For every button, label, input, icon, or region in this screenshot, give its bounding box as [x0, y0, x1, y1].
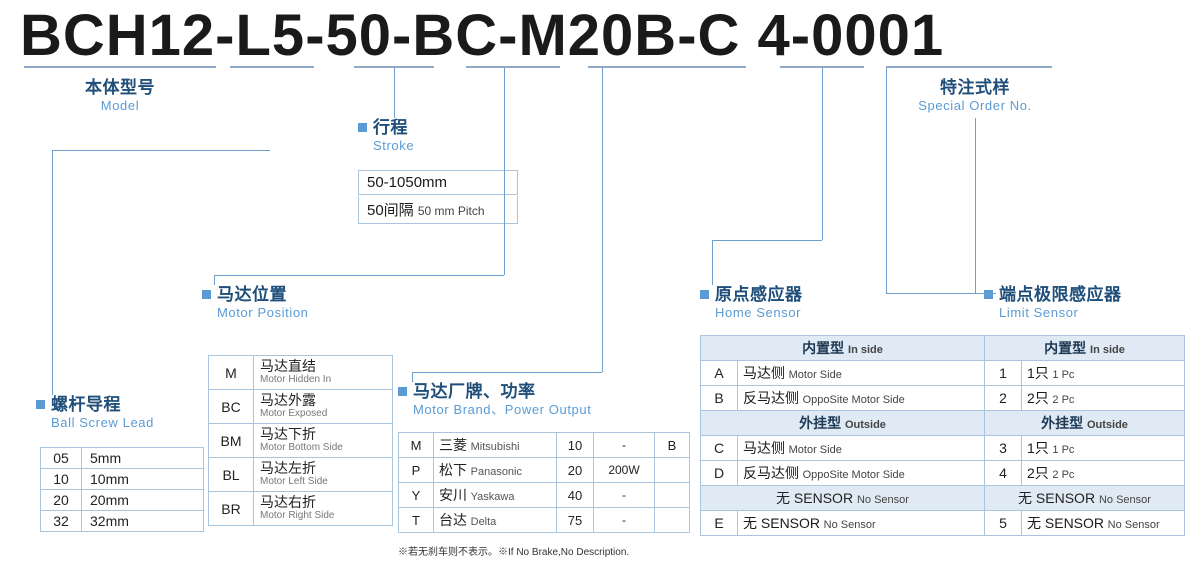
home-value: 反马达侧 OppoSite Motor Side — [738, 386, 985, 411]
brand-suffix — [655, 458, 690, 483]
leader-home-up — [822, 68, 823, 240]
table-row: 05 5mm — [41, 448, 204, 469]
section-limit-cn: 端点极限感应器 — [984, 285, 1122, 305]
table-row: BC 马达外露 Motor Exposed — [209, 390, 393, 424]
leader-stroke — [394, 68, 395, 118]
table-row: 2 2只 2 Pc — [985, 386, 1185, 411]
home-cn: 马达侧 — [743, 365, 785, 381]
square-bullet-icon — [984, 290, 993, 299]
limit-outside-header: 外挂型 Outside — [985, 411, 1185, 436]
table-row: B 反马达侧 OppoSite Motor Side — [701, 386, 985, 411]
ball-screw-lead-table: 05 5mm 10 10mm 20 20mm 32 32mm — [40, 447, 204, 532]
home-cn: 反马达侧 — [743, 390, 799, 406]
motorpos-cn: 马达直结 — [260, 359, 386, 374]
home-value: 无 SENSOR No Sensor — [738, 511, 985, 536]
motor-position-table: M 马达直结 Motor Hidden In BC 马达外露 Motor Exp… — [208, 355, 393, 526]
brand-suffix — [655, 508, 690, 533]
table-row: 无 SENSOR No Sensor — [985, 486, 1185, 511]
table-row: 外挂型 Outside — [985, 411, 1185, 436]
home-outside-en: Outside — [845, 419, 886, 431]
underline-lead — [230, 66, 314, 68]
stroke-pitch-en: 50 mm Pitch — [418, 204, 485, 218]
lead-value: 20mm — [82, 490, 204, 511]
home-cn: 反马达侧 — [743, 465, 799, 481]
home-cn: 马达侧 — [743, 440, 785, 456]
square-bullet-icon — [700, 290, 709, 299]
brand-num: 40 — [557, 483, 594, 508]
code-part-special: 0001 — [811, 2, 944, 69]
motorpos-en: Motor Bottom Side — [260, 442, 386, 454]
motorpos-key: BR — [209, 492, 254, 526]
limit-cn: 2只 — [1027, 465, 1049, 481]
limit-value: 1只 1 Pc — [1022, 361, 1185, 386]
home-key: B — [701, 386, 738, 411]
code-dash-2: - — [305, 2, 325, 69]
code-part-model: BCH12 — [20, 2, 215, 69]
lead-value: 32mm — [82, 511, 204, 532]
motorpos-en: Motor Left Side — [260, 476, 386, 488]
leader-special — [975, 118, 976, 293]
brand-power: - — [594, 508, 655, 533]
home-key: E — [701, 511, 738, 536]
brand-name-cell: 台达 Delta — [434, 508, 557, 533]
motorpos-value: 马达外露 Motor Exposed — [254, 390, 393, 424]
motorpos-cn: 马达左折 — [260, 461, 386, 476]
home-cn: 无 SENSOR — [743, 515, 820, 531]
motorpos-en: Motor Hidden In — [260, 374, 386, 386]
underline-special — [886, 66, 1052, 68]
model-code: BCH12-L5-50-BC-M20B-C 4-0001 — [20, 2, 944, 69]
brand-cn: 三菱 — [439, 437, 467, 453]
lead-key: 32 — [41, 511, 82, 532]
brand-en: Delta — [471, 516, 497, 528]
code-dash-4: - — [498, 2, 518, 69]
brand-key: P — [399, 458, 434, 483]
table-row: Y 安川 Yaskawa 40 - — [399, 483, 690, 508]
section-motorpos-en: Motor Position — [217, 305, 309, 321]
leader-brand-up — [602, 68, 603, 372]
brand-num: 20 — [557, 458, 594, 483]
home-value: 马达侧 Motor Side — [738, 436, 985, 461]
leader-limit-h — [886, 293, 996, 294]
home-key: D — [701, 461, 738, 486]
section-special: 特注式样 Special Order No. — [880, 78, 1070, 114]
motorpos-value: 马达右折 Motor Right Side — [254, 492, 393, 526]
limit-inside-header: 内置型 In side — [985, 336, 1185, 361]
brand-cn: 安川 — [439, 487, 467, 503]
home-key: A — [701, 361, 738, 386]
square-bullet-icon — [36, 400, 45, 409]
section-motor-position: 马达位置 Motor Position — [202, 285, 309, 321]
motorpos-key: BM — [209, 424, 254, 458]
motorpos-value: 马达下折 Motor Bottom Side — [254, 424, 393, 458]
brand-num: 75 — [557, 508, 594, 533]
section-stroke: 行程 Stroke — [358, 118, 414, 154]
stroke-range: 50-1050mm — [367, 174, 447, 191]
underline-motor-position — [466, 66, 560, 68]
limit-key: 5 — [985, 511, 1022, 536]
leader-motorpos-up — [504, 68, 505, 275]
leader-home-h — [712, 240, 822, 241]
brand-power: - — [594, 433, 655, 458]
limit-value: 2只 2 Pc — [1022, 386, 1185, 411]
brand-key: M — [399, 433, 434, 458]
brand-cn: 松下 — [439, 462, 467, 478]
section-stroke-cn: 行程 — [358, 118, 414, 138]
stroke-pitch-cn: 50间隔 — [367, 202, 414, 219]
brand-power: 200W — [594, 458, 655, 483]
limit-sensor-table: 内置型 In side 1 1只 1 Pc 2 2只 2 Pc — [984, 335, 1185, 536]
section-home-cn: 原点感应器 — [700, 285, 803, 305]
home-outside-header: 外挂型 Outside — [701, 411, 985, 436]
leader-home — [712, 240, 713, 285]
brand-suffix: B — [655, 433, 690, 458]
home-nosensor-band: 无 SENSOR No Sensor — [701, 486, 985, 511]
square-bullet-icon — [398, 387, 407, 396]
home-en: No Sensor — [824, 519, 876, 531]
leader-lead-h — [52, 150, 270, 151]
section-motor-brand: 马达厂牌、功率 Motor Brand、Power Output — [398, 382, 591, 418]
motorpos-cn: 马达右折 — [260, 495, 386, 510]
table-row: 4 2只 2 Pc — [985, 461, 1185, 486]
motorpos-key: BL — [209, 458, 254, 492]
underline-model — [24, 66, 216, 68]
motorpos-en: Motor Exposed — [260, 408, 386, 420]
home-nosensor-en: No Sensor — [857, 494, 909, 506]
limit-en: 2 Pc — [1052, 469, 1074, 481]
table-row: C 马达侧 Motor Side — [701, 436, 985, 461]
leader-brand — [412, 372, 413, 382]
limit-outside-en: Outside — [1087, 419, 1128, 431]
section-home-en: Home Sensor — [715, 305, 803, 321]
limit-nosensor-band: 无 SENSOR No Sensor — [985, 486, 1185, 511]
motor-brand-note: ※若无刹车则不表示。※If No Brake,No Description. — [398, 543, 629, 558]
motor-brand-table: M 三菱 Mitsubishi 10 - B P 松下 Panasonic 20… — [398, 432, 690, 533]
limit-inside-en: In side — [1090, 344, 1125, 356]
table-row: M 三菱 Mitsubishi 10 - B — [399, 433, 690, 458]
table-row: 20 20mm — [41, 490, 204, 511]
brand-cn: 台达 — [439, 512, 467, 528]
brand-power: - — [594, 483, 655, 508]
square-bullet-icon — [202, 290, 211, 299]
home-outside-cn: 外挂型 — [799, 415, 841, 431]
section-limit-sensor: 端点极限感应器 Limit Sensor — [984, 285, 1122, 321]
limit-en: No Sensor — [1108, 519, 1160, 531]
home-inside-cn: 内置型 — [802, 340, 844, 356]
table-row: 32 32mm — [41, 511, 204, 532]
code-part-motor-position: BC — [412, 2, 498, 69]
limit-key: 1 — [985, 361, 1022, 386]
section-special-cn: 特注式样 — [880, 78, 1070, 98]
brand-name-cell: 松下 Panasonic — [434, 458, 557, 483]
section-lead-en: Ball Screw Lead — [51, 415, 154, 431]
limit-cn: 1只 — [1027, 440, 1049, 456]
table-row: A 马达侧 Motor Side — [701, 361, 985, 386]
leader-motorpos-h — [214, 275, 504, 276]
home-sensor-table: 内置型 In side A 马达侧 Motor Side B 反马达侧 Oppo… — [700, 335, 985, 536]
table-row: 内置型 In side — [701, 336, 985, 361]
square-bullet-icon — [358, 123, 367, 132]
limit-cn: 无 SENSOR — [1027, 515, 1104, 531]
code-part-stroke: 50 — [326, 2, 393, 69]
home-en: Motor Side — [789, 444, 842, 456]
limit-en: 2 Pc — [1052, 394, 1074, 406]
home-key: C — [701, 436, 738, 461]
limit-cn: 1只 — [1027, 365, 1049, 381]
leader-lead — [52, 150, 53, 395]
code-dash-1: - — [215, 2, 235, 69]
brand-name-cell: 三菱 Mitsubishi — [434, 433, 557, 458]
stroke-pitch-box: 50间隔 50 mm Pitch — [358, 196, 518, 224]
home-en: Motor Side — [789, 369, 842, 381]
home-nosensor-cn: 无 SENSOR — [776, 490, 853, 506]
lead-value: 5mm — [82, 448, 204, 469]
home-en: OppoSite Motor Side — [803, 394, 905, 406]
section-brand-cn: 马达厂牌、功率 — [398, 382, 591, 402]
brand-en: Panasonic — [471, 466, 522, 478]
table-row: T 台达 Delta 75 - — [399, 508, 690, 533]
motorpos-en: Motor Right Side — [260, 510, 386, 522]
limit-outside-cn: 外挂型 — [1041, 415, 1083, 431]
table-row: 3 1只 1 Pc — [985, 436, 1185, 461]
leader-brand-h — [412, 372, 602, 373]
motorpos-cn: 马达下折 — [260, 427, 386, 442]
code-part-lead: L5 — [236, 2, 306, 69]
home-value: 马达侧 Motor Side — [738, 361, 985, 386]
brand-name-cell: 安川 Yaskawa — [434, 483, 557, 508]
limit-value: 无 SENSOR No Sensor — [1022, 511, 1185, 536]
limit-cn: 2只 — [1027, 390, 1049, 406]
limit-value: 2只 2 Pc — [1022, 461, 1185, 486]
section-motorpos-cn: 马达位置 — [202, 285, 309, 305]
section-stroke-en: Stroke — [373, 138, 414, 154]
limit-nosensor-cn: 无 SENSOR — [1018, 490, 1095, 506]
limit-inside-cn: 内置型 — [1044, 340, 1086, 356]
home-inside-header: 内置型 In side — [701, 336, 985, 361]
brand-en: Mitsubishi — [471, 441, 520, 453]
section-model-en: Model — [35, 98, 205, 114]
section-model-cn: 本体型号 — [35, 78, 205, 98]
brand-num: 10 — [557, 433, 594, 458]
limit-key: 2 — [985, 386, 1022, 411]
limit-en: 1 Pc — [1052, 444, 1074, 456]
section-limit-en: Limit Sensor — [999, 305, 1122, 321]
home-inside-en: In side — [848, 344, 883, 356]
limit-en: 1 Pc — [1052, 369, 1074, 381]
table-row: 5 无 SENSOR No Sensor — [985, 511, 1185, 536]
code-dash-6: - — [791, 2, 811, 69]
table-row: P 松下 Panasonic 20 200W — [399, 458, 690, 483]
table-row: BM 马达下折 Motor Bottom Side — [209, 424, 393, 458]
code-dash-3: - — [392, 2, 412, 69]
underline-motor-brand — [588, 66, 746, 68]
code-part-sensors: C 4 — [698, 2, 791, 69]
lead-key: 05 — [41, 448, 82, 469]
section-ball-screw-lead: 螺杆导程 Ball Screw Lead — [36, 395, 154, 431]
section-model: 本体型号 Model — [35, 78, 205, 114]
motorpos-value: 马达直结 Motor Hidden In — [254, 356, 393, 390]
table-row: M 马达直结 Motor Hidden In — [209, 356, 393, 390]
brand-suffix — [655, 483, 690, 508]
motorpos-key: BC — [209, 390, 254, 424]
table-row: D 反马达侧 OppoSite Motor Side — [701, 461, 985, 486]
section-brand-en: Motor Brand、Power Output — [413, 402, 591, 418]
limit-value: 1只 1 Pc — [1022, 436, 1185, 461]
section-special-en: Special Order No. — [880, 98, 1070, 114]
stroke-range-box: 50-1050mm — [358, 170, 518, 195]
table-row: 无 SENSOR No Sensor — [701, 486, 985, 511]
section-home-sensor: 原点感应器 Home Sensor — [700, 285, 803, 321]
part-number-configurator: BCH12-L5-50-BC-M20B-C 4-0001 本体型号 Model … — [0, 0, 1200, 575]
brand-key: T — [399, 508, 434, 533]
limit-nosensor-en: No Sensor — [1099, 494, 1151, 506]
limit-key: 3 — [985, 436, 1022, 461]
lead-key: 10 — [41, 469, 82, 490]
leader-limit — [886, 68, 887, 293]
lead-value: 10mm — [82, 469, 204, 490]
code-dash-5: - — [677, 2, 697, 69]
table-row: E 无 SENSOR No Sensor — [701, 511, 985, 536]
leader-motorpos — [214, 275, 215, 285]
motorpos-value: 马达左折 Motor Left Side — [254, 458, 393, 492]
home-en: OppoSite Motor Side — [803, 469, 905, 481]
table-row: 内置型 In side — [985, 336, 1185, 361]
lead-key: 20 — [41, 490, 82, 511]
table-row: BR 马达右折 Motor Right Side — [209, 492, 393, 526]
table-row: 10 10mm — [41, 469, 204, 490]
motorpos-key: M — [209, 356, 254, 390]
brand-key: Y — [399, 483, 434, 508]
table-row: BL 马达左折 Motor Left Side — [209, 458, 393, 492]
motorpos-cn: 马达外露 — [260, 393, 386, 408]
limit-key: 4 — [985, 461, 1022, 486]
section-lead-cn: 螺杆导程 — [36, 395, 154, 415]
home-value: 反马达侧 OppoSite Motor Side — [738, 461, 985, 486]
brand-en: Yaskawa — [471, 491, 515, 503]
table-row: 外挂型 Outside — [701, 411, 985, 436]
code-part-motor-brand: M20B — [518, 2, 677, 69]
table-row: 1 1只 1 Pc — [985, 361, 1185, 386]
